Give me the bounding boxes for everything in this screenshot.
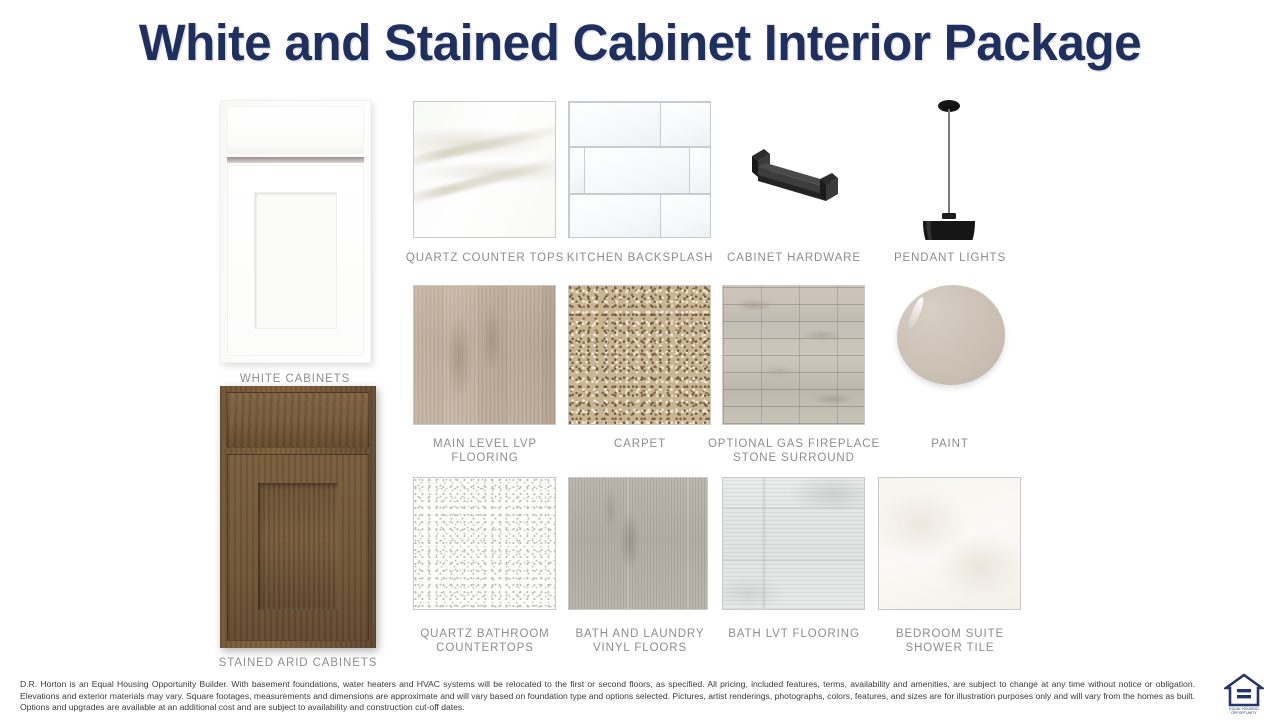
swatch-pendant-lights xyxy=(878,95,1021,240)
cabinet-recessed-panel xyxy=(258,483,338,610)
label-carpet: CARPET xyxy=(553,437,727,451)
cabinet-bar-pull-icon xyxy=(722,101,865,238)
gray-wood-vinyl-texture xyxy=(568,477,708,610)
swatch-bath-and-laundry-vinyl-floors xyxy=(568,477,708,610)
shower-tile-texture xyxy=(878,477,1021,610)
bath-lvt-texture xyxy=(722,477,865,610)
label-bedroom-suite: BEDROOM SUITE xyxy=(863,627,1037,641)
label-shower-tile: SHOWER TILE xyxy=(863,641,1037,655)
cabinet-door-front xyxy=(227,454,369,641)
swatch-paint xyxy=(897,285,1005,385)
swatch-quartz-bathroom-countertops xyxy=(413,477,556,610)
equal-housing-opportunity-logo: EQUAL HOUSING OPPORTUNITY xyxy=(1224,672,1264,714)
page-title: White and Stained Cabinet Interior Packa… xyxy=(19,12,1261,74)
swatch-bedroom-suite-shower-tile xyxy=(878,477,1021,610)
cabinet-drawer-front xyxy=(227,392,369,448)
swatch-optional-gas-fireplace-stone-surround xyxy=(722,285,865,425)
label-bath-and-laundry: BATH AND LAUNDRY xyxy=(553,627,727,641)
label-paint: PAINT xyxy=(863,437,1037,451)
label-quartz-bathroom: QUARTZ BATHROOM xyxy=(398,627,572,641)
swatch-bath-lvt-flooring xyxy=(722,477,865,610)
quartz-bathroom-texture xyxy=(413,477,556,610)
stained-cabinet-door-swatch xyxy=(220,386,376,648)
white-cabinets-label: WHITE CABINETS xyxy=(180,372,410,386)
equal-housing-logo-text: EQUAL HOUSING OPPORTUNITY xyxy=(1224,707,1264,715)
interior-package-board: White and Stained Cabinet Interior Packa… xyxy=(0,0,1280,720)
cabinet-recessed-panel xyxy=(254,192,337,329)
label-cabinet-hardware: CABINET HARDWARE xyxy=(707,251,881,265)
label-kitchen-backsplash: KITCHEN BACKSPLASH xyxy=(553,251,727,265)
swatch-carpet xyxy=(568,285,711,425)
swatch-main-level-lvp-flooring xyxy=(413,285,556,425)
cabinet-drawer-front xyxy=(227,106,364,154)
pendant-light-icon xyxy=(878,95,1021,240)
label-optional-gas-fireplace: OPTIONAL GAS FIREPLACE xyxy=(707,437,881,451)
stacked-stone-texture xyxy=(722,285,865,425)
quartz-counter-top-texture xyxy=(413,101,556,238)
carpet-texture xyxy=(568,285,711,425)
label-main-level-lvp-flooring: MAIN LEVEL LVP FLOORING xyxy=(398,437,572,465)
label-quartz-counter-tops: QUARTZ COUNTER TOPS xyxy=(398,251,572,265)
label-countertops: COUNTERTOPS xyxy=(398,641,572,655)
cabinet-shadow-gap xyxy=(227,157,364,163)
lvp-wood-texture xyxy=(413,285,556,425)
label-pendant-lights: PENDANT LIGHTS xyxy=(863,251,1037,265)
legal-disclaimer: D.R. Horton is an Equal Housing Opportun… xyxy=(20,679,1195,714)
stained-arid-cabinets-label: STAINED ARID CABINETS xyxy=(180,656,416,670)
label-bath-lvt-flooring: BATH LVT FLOORING xyxy=(707,627,881,641)
label-vinyl-floors: VINYL FLOORS xyxy=(553,641,727,655)
paint-gloss-highlight xyxy=(906,296,926,331)
swatch-cabinet-hardware xyxy=(722,101,865,238)
swatch-quartz-counter-tops xyxy=(413,101,556,238)
subway-tile-texture xyxy=(568,101,711,238)
label-stone-surround: STONE SURROUND xyxy=(707,451,881,465)
white-cabinet-door-swatch xyxy=(220,100,371,363)
cabinet-door-front xyxy=(227,165,364,356)
swatch-kitchen-backsplash xyxy=(568,101,711,238)
